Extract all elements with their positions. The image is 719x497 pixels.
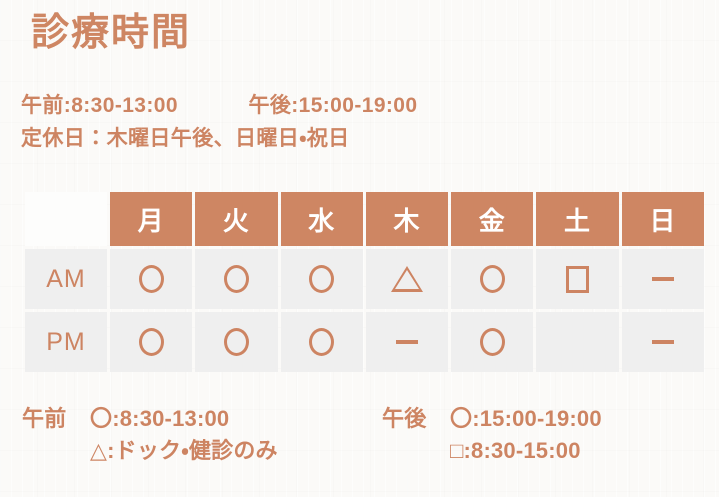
circle-mark-icon bbox=[309, 328, 334, 356]
period-label-am: AM bbox=[25, 249, 107, 309]
legend-pm-primary: 午後 〇:15:00-19:00 bbox=[382, 403, 702, 435]
circle-mark-icon bbox=[480, 265, 505, 293]
circle-mark-icon bbox=[224, 265, 249, 293]
clinic-hours-page: 診療時間 午前:8:30-13:00 午後:15:00-19:00 定休日：木曜… bbox=[0, 0, 719, 497]
intro-hours-line: 午前:8:30-13:00 午後:15:00-19:00 bbox=[21, 90, 711, 123]
legend-period-pm: 午後 bbox=[382, 403, 450, 435]
afternoon-hours-text: 午後:15:00-19:00 bbox=[248, 94, 417, 117]
circle-mark-icon bbox=[480, 328, 505, 356]
day-header-sun: 日 bbox=[622, 192, 704, 246]
legend-square-note: □:8:30-15:00 bbox=[450, 435, 581, 467]
legend-am-secondary: 午前 △:ドック・健診のみ bbox=[22, 435, 382, 467]
square-mark-icon bbox=[566, 266, 589, 293]
day-header-wed: 水 bbox=[281, 192, 363, 246]
cell-am-sat bbox=[536, 249, 618, 309]
intro-block: 午前:8:30-13:00 午後:15:00-19:00 定休日：木曜日午後、日… bbox=[21, 90, 711, 155]
cell-pm-sat bbox=[536, 312, 618, 372]
cell-am-tue bbox=[195, 249, 277, 309]
legend-period-am: 午前 bbox=[22, 403, 90, 435]
cell-am-wed bbox=[281, 249, 363, 309]
table-body: AM PM bbox=[25, 249, 704, 372]
day-header-tue: 火 bbox=[195, 192, 277, 246]
cell-am-thu bbox=[366, 249, 448, 309]
circle-mark-icon bbox=[224, 328, 249, 356]
table-row-am: AM bbox=[25, 249, 704, 309]
cell-am-fri bbox=[451, 249, 533, 309]
circle-mark-icon bbox=[309, 265, 334, 293]
closed-days-text: 定休日：木曜日午後、日曜日・祝日 bbox=[21, 123, 711, 156]
legend-row-secondary: 午前 △:ドック・健診のみ 午後 □:8:30-15:00 bbox=[22, 435, 712, 467]
circle-mark-icon bbox=[139, 328, 164, 356]
cell-am-mon bbox=[110, 249, 192, 309]
day-header-sat: 土 bbox=[536, 192, 618, 246]
schedule-table: 月 火 水 木 金 土 日 AM PM bbox=[22, 189, 707, 375]
triangle-mark-icon bbox=[391, 266, 423, 292]
dash-mark-icon bbox=[652, 277, 674, 281]
dash-mark-icon bbox=[652, 340, 674, 344]
legend-am-hours: 〇:8:30-13:00 bbox=[90, 403, 229, 435]
day-header-thu: 木 bbox=[366, 192, 448, 246]
period-label-pm: PM bbox=[25, 312, 107, 372]
morning-hours-text: 午前:8:30-13:00 bbox=[21, 94, 178, 117]
day-header-mon: 月 bbox=[110, 192, 192, 246]
legend-block: 午前 〇:8:30-13:00 午後 〇:15:00-19:00 午前 △:ドッ… bbox=[22, 403, 712, 467]
cell-am-sun bbox=[622, 249, 704, 309]
legend-row-primary: 午前 〇:8:30-13:00 午後 〇:15:00-19:00 bbox=[22, 403, 712, 435]
circle-mark-icon bbox=[139, 265, 164, 293]
legend-pm-hours: 〇:15:00-19:00 bbox=[450, 403, 602, 435]
legend-triangle-note: △:ドック・健診のみ bbox=[90, 435, 278, 467]
cell-pm-thu bbox=[366, 312, 448, 372]
page-title: 診療時間 bbox=[31, 8, 191, 59]
legend-am-primary: 午前 〇:8:30-13:00 bbox=[22, 403, 382, 435]
legend-pm-secondary: 午後 □:8:30-15:00 bbox=[382, 435, 702, 467]
table-header-row: 月 火 水 木 金 土 日 bbox=[25, 192, 704, 246]
table-row-pm: PM bbox=[25, 312, 704, 372]
dash-mark-icon bbox=[396, 340, 418, 344]
cell-pm-fri bbox=[451, 312, 533, 372]
table-corner-cell bbox=[25, 192, 107, 246]
cell-pm-sun bbox=[622, 312, 704, 372]
cell-pm-mon bbox=[110, 312, 192, 372]
cell-pm-tue bbox=[195, 312, 277, 372]
day-header-fri: 金 bbox=[451, 192, 533, 246]
cell-pm-wed bbox=[281, 312, 363, 372]
